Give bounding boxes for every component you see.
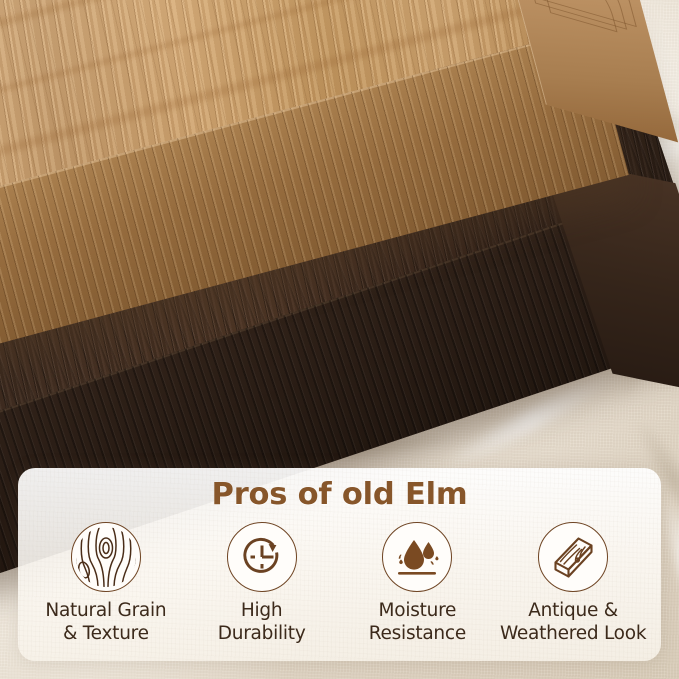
feature-label: Antique & Weathered Look — [500, 599, 646, 645]
feature-high-durability[interactable]: High Durability — [184, 522, 340, 645]
panel-title: Pros of old Elm — [18, 477, 661, 512]
feature-natural-grain[interactable]: Natural Grain & Texture — [28, 522, 184, 645]
wood-grain-icon — [71, 522, 141, 592]
feature-moisture-resistance[interactable]: Moisture Resistance — [340, 522, 496, 645]
end-grain-chevron — [536, 0, 617, 32]
feature-label: Moisture Resistance — [369, 599, 466, 645]
feature-label: High Durability — [218, 599, 306, 645]
feature-antique-weathered[interactable]: Antique & Weathered Look — [495, 522, 651, 645]
pros-panel: Pros of old Elm — [18, 468, 661, 661]
clock-refresh-icon — [227, 522, 297, 592]
product-image: Pros of old Elm — [0, 0, 679, 679]
feature-label: Natural Grain & Texture — [45, 599, 166, 645]
wood-plank-icon — [538, 522, 608, 592]
water-droplet-icon — [382, 522, 452, 592]
feature-list: Natural Grain & Texture — [18, 522, 661, 645]
